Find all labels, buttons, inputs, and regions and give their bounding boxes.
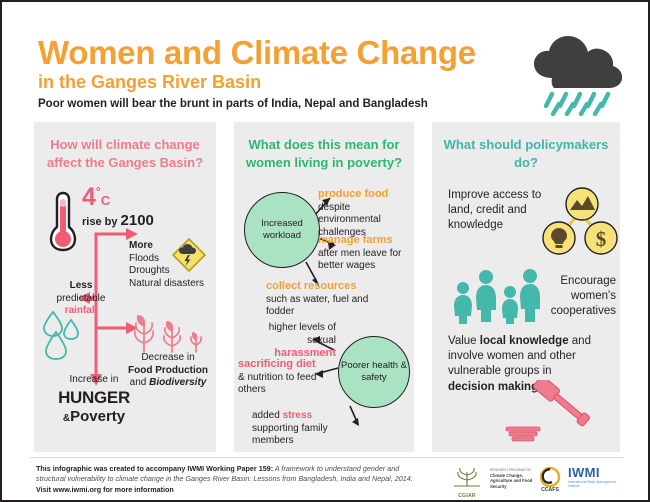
women-group-icon	[452, 268, 544, 329]
land-icon	[566, 188, 598, 220]
page-subtitle: in the Ganges River Basin	[38, 73, 558, 92]
footer-divider	[30, 457, 624, 458]
footer-credit: This infographic was created to accompan…	[36, 464, 426, 495]
gavel-icon	[500, 380, 592, 447]
footer-logos: CGIAR RESEARCH PROGRAM ON Climate Change…	[450, 464, 622, 498]
rain-cloud-icon	[530, 34, 626, 116]
column-women-in-poverty: What does this mean for women living in …	[234, 122, 414, 452]
page-title: Women and Climate Change	[38, 36, 558, 69]
action-encourage-cooperatives: Encourage women's cooperatives	[546, 274, 616, 319]
item-produce-food: produce food despite environmental chall…	[318, 188, 414, 239]
svg-text:$: $	[596, 227, 607, 251]
temperature-value: 4°C	[82, 185, 110, 210]
item-collect-resources: collect resources such as water, fuel an…	[266, 280, 386, 319]
header: Women and Climate Change in the Ganges R…	[38, 36, 558, 110]
item-harassment: higher levels of sexual harassment	[244, 322, 336, 361]
ccafs-logo: CCAFS	[536, 467, 564, 493]
column-climate-impacts: How will climate change affect the Gange…	[34, 122, 216, 452]
cgiar-logo: CGIAR	[450, 466, 484, 499]
dollar-icon: $	[585, 222, 617, 254]
column-3-heading: What should policymakers do?	[432, 122, 620, 171]
access-icons-group: $	[542, 186, 618, 262]
item-sacrificing-diet: sacrificing diet & nutrition to feed oth…	[238, 358, 334, 397]
column-policy-actions: What should policymakers do? Improve acc…	[432, 122, 620, 452]
temperature-rise-label: rise by 2100	[82, 212, 154, 229]
infographic-root: Women and Climate Change in the Ganges R…	[0, 0, 650, 502]
increased-workload-bubble: Increased workload	[244, 192, 320, 268]
lightbulb-icon	[543, 222, 575, 254]
hunger-poverty-block: Increase in HUNGER &Poverty	[48, 374, 140, 427]
page-tagline: Poor women will bear the brunt in parts …	[38, 98, 558, 110]
item-manage-farms: manage farms after men leave for better …	[318, 234, 414, 273]
water-drop-icon	[40, 308, 94, 365]
ccafs-program-text: RESEARCH PROGRAM ON Climate Change, Agri…	[490, 467, 534, 490]
storm-warning-sign-icon	[171, 237, 207, 278]
action-improve-access: Improve access to land, credit and knowl…	[448, 188, 552, 233]
iwmi-logo: IWMI International Water Management Inst…	[568, 466, 622, 489]
item-added-stress: added stress supporting family members	[252, 410, 354, 448]
thermometer-icon	[48, 190, 78, 257]
poorer-health-bubble: Poorer health & safety	[338, 336, 410, 408]
